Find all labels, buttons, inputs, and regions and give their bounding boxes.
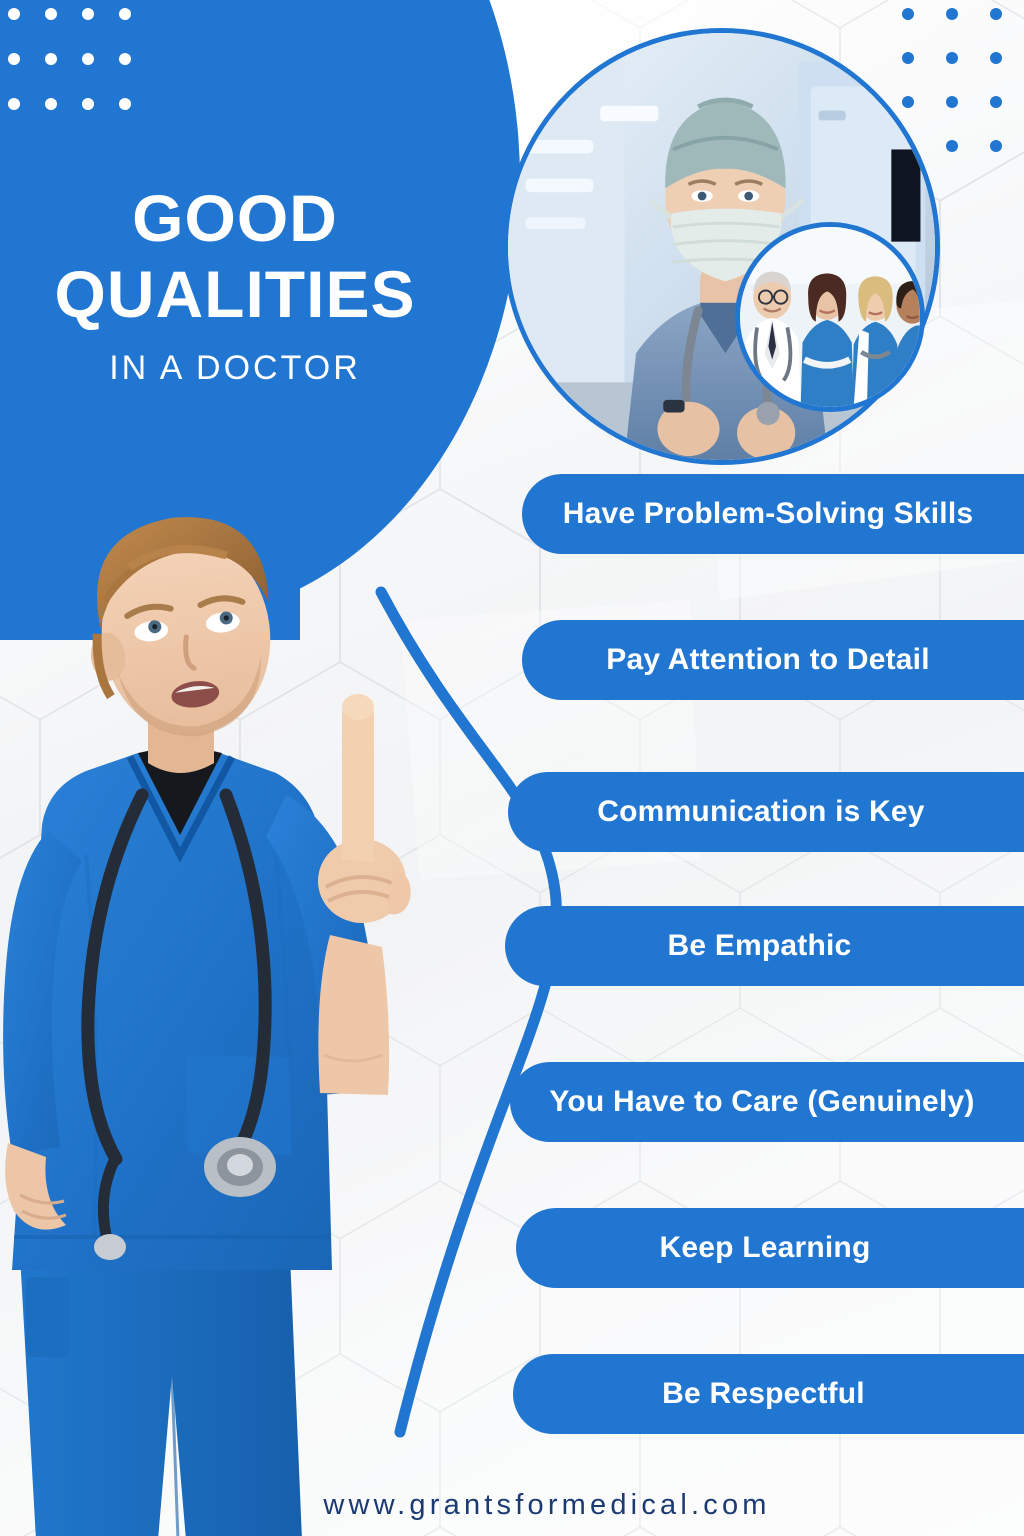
decorative-dot [45,53,57,65]
quality-label-6: Keep Learning [660,1231,871,1265]
title-line-2: QUALITIES [0,261,470,327]
decorative-dot [82,98,94,110]
quality-pill-3[interactable]: Communication is Key [508,772,1024,852]
decorative-dot [8,8,20,20]
doctor-pointing-up [0,495,460,1536]
quality-label-3: Communication is Key [597,795,924,829]
medical-team-photo-svg [740,227,920,407]
page-title: GOOD QUALITIES IN A DOCTOR [0,185,470,388]
website-url[interactable]: www.grantsformedical.com [0,1489,1024,1522]
decorative-dot [990,8,1002,20]
medical-team-photo [735,222,925,412]
decorative-dot [902,8,914,20]
title-line-1: GOOD [0,185,470,251]
decorative-dot [119,53,131,65]
decorative-dot [990,96,1002,108]
decorative-dot [8,53,20,65]
decorative-dot [45,98,57,110]
decorative-dot [946,96,958,108]
quality-label-1: Have Problem-Solving Skills [563,497,974,531]
quality-label-7: Be Respectful [662,1377,865,1411]
decorative-dot [119,8,131,20]
decorative-dot [119,98,131,110]
quality-pill-7[interactable]: Be Respectful [513,1354,1024,1434]
quality-pill-1[interactable]: Have Problem-Solving Skills [522,474,1024,554]
quality-pill-2[interactable]: Pay Attention to Detail [522,620,1024,700]
decorative-dot [946,8,958,20]
decorative-dot [8,98,20,110]
decorative-dot [946,52,958,64]
quality-label-4: Be Empathic [668,929,852,963]
quality-label-5: You Have to Care (Genuinely) [549,1085,974,1119]
decorative-dot [946,140,958,152]
quality-pill-4[interactable]: Be Empathic [505,906,1024,986]
infographic-poster: GOOD QUALITIES IN A DOCTOR [0,0,1024,1536]
quality-label-2: Pay Attention to Detail [606,643,930,677]
decorative-dot [82,53,94,65]
title-subtitle: IN A DOCTOR [0,349,470,388]
decorative-dot [990,52,1002,64]
quality-pill-6[interactable]: Keep Learning [516,1208,1024,1288]
decorative-dot [45,8,57,20]
decorative-dot [990,140,1002,152]
quality-pill-5[interactable]: You Have to Care (Genuinely) [510,1062,1024,1142]
decorative-dot [82,8,94,20]
